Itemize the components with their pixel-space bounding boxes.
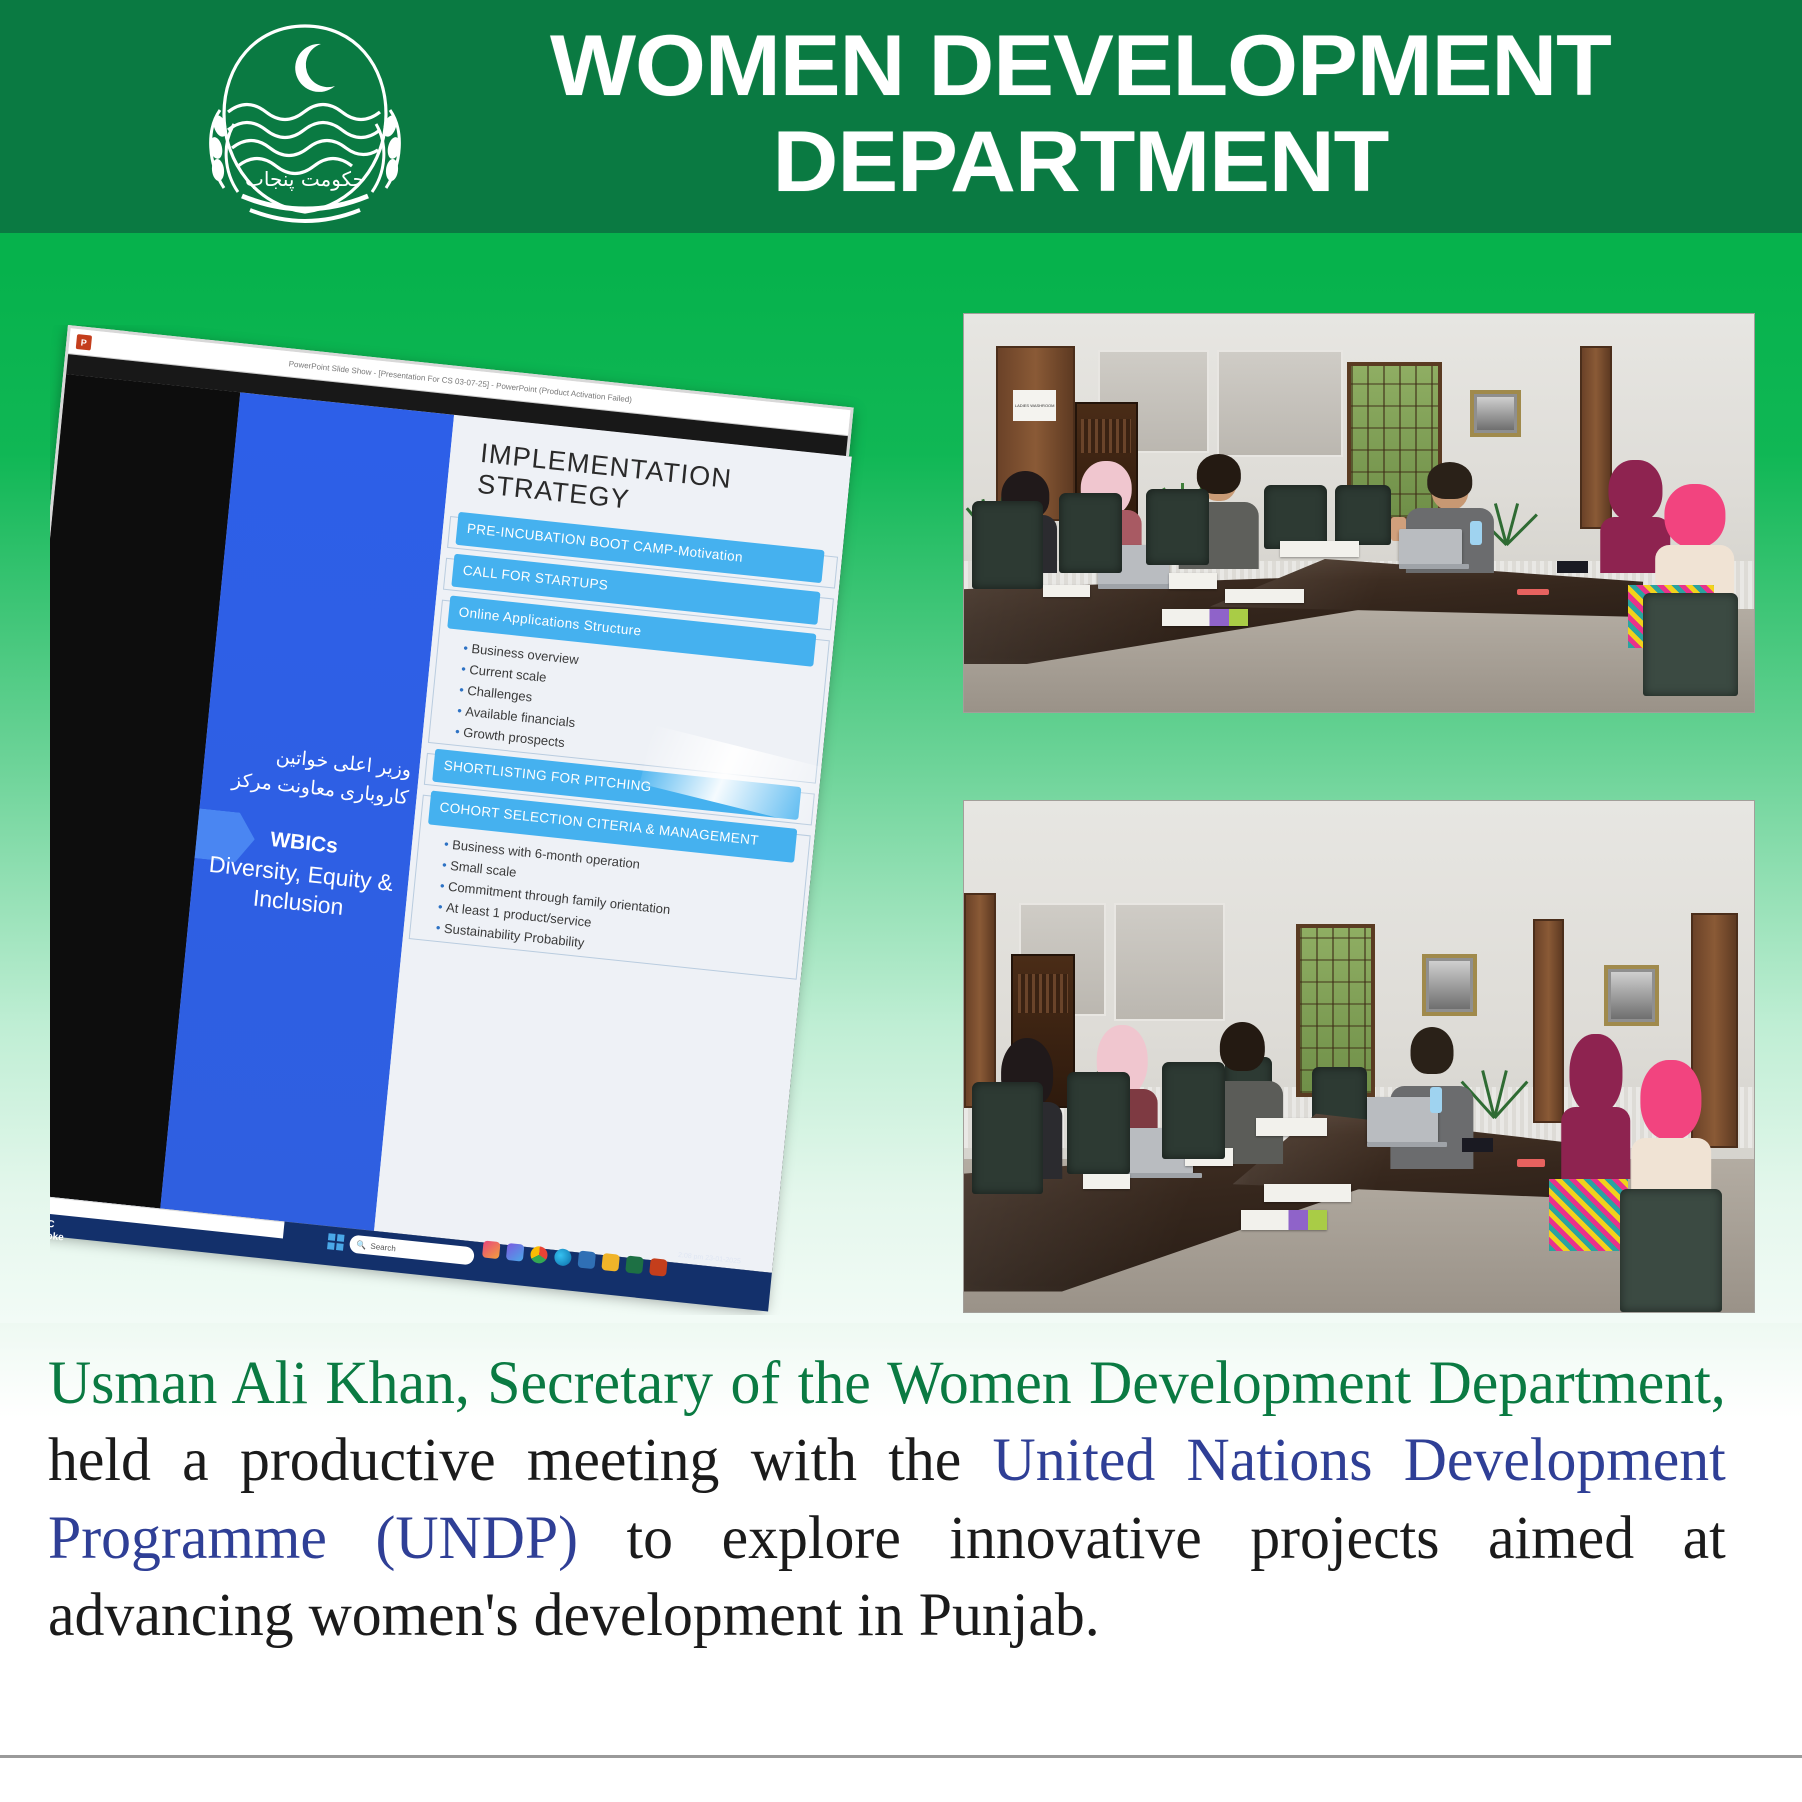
weather-temperature: 14°C (50, 1217, 65, 1232)
widgets-icon[interactable] (506, 1243, 525, 1262)
papers (1280, 541, 1359, 557)
edge-icon[interactable] (554, 1248, 573, 1267)
folder (1162, 609, 1249, 627)
caption-text: Usman Ali Khan, Secretary of the Women D… (48, 1345, 1726, 1655)
crest-urdu-text: حکومت پنجاب (245, 167, 365, 192)
projection-screen: P PowerPoint Slide Show - [Presentation … (50, 325, 854, 1308)
chrome-icon[interactable] (530, 1245, 549, 1264)
wall-picture (1604, 965, 1659, 1026)
slide-right-panel: IMPLEMENTATION STRATEGY PRE-INCUBATION B… (374, 415, 852, 1273)
laptop (1367, 1097, 1438, 1143)
device (1557, 561, 1589, 573)
powerpoint-icon[interactable] (649, 1258, 668, 1277)
dupatta (1549, 1179, 1628, 1251)
windows-start-icon[interactable] (327, 1233, 344, 1251)
projected-slide-photo: P PowerPoint Slide Show - [Presentation … (50, 325, 880, 1315)
water-bottle (1430, 1087, 1442, 1113)
potted-plant (1470, 1036, 1517, 1118)
government-of-punjab-emblem-icon: حکومت پنجاب (190, 14, 420, 229)
page-header: حکومت پنجاب WOMEN DEVELOPMENT DEPARTMENT (0, 0, 1802, 233)
page-title: WOMEN DEVELOPMENT DEPARTMENT (455, 18, 1706, 211)
magnifier-icon: 🔍 (356, 1240, 367, 1250)
caption-segment-dark-1: held a productive meeting with the (48, 1427, 993, 1494)
slide-step: COHORT SELECTION CITERIA & MANAGEMENT Bu… (417, 790, 797, 974)
device (1462, 1138, 1494, 1151)
excel-icon[interactable] (625, 1255, 644, 1274)
store-icon[interactable] (577, 1250, 596, 1269)
meeting-photo-bottom (963, 800, 1755, 1313)
attendee (1636, 1067, 1707, 1210)
laptop (1399, 529, 1462, 565)
bottom-white-strip (0, 1758, 1802, 1802)
header-accent-band (0, 233, 1802, 263)
pen (1517, 1159, 1545, 1167)
file-explorer-icon[interactable] (601, 1253, 620, 1272)
caption-box: Usman Ali Khan, Secretary of the Women D… (0, 1323, 1802, 1758)
papers (1256, 1118, 1327, 1136)
meeting-photo-top: LADIES WASHROOM (963, 313, 1755, 713)
slide-canvas: وزیر اعلی خواتین کاروباری معاونت مرکز WB… (50, 374, 852, 1273)
taskbar-search-placeholder: Search (370, 1241, 396, 1253)
wall-picture (1422, 954, 1477, 1015)
page-title-line-2: DEPARTMENT (455, 114, 1706, 210)
pen (1517, 589, 1549, 595)
papers (1043, 585, 1090, 597)
papers (1264, 1184, 1351, 1202)
wall-picture (1470, 390, 1521, 438)
caption-segment-green: Usman Ali Khan, Secretary of the Women D… (48, 1350, 1726, 1417)
page-title-line-1: WOMEN DEVELOPMENT (455, 18, 1706, 114)
folder (1241, 1210, 1328, 1230)
door-sign: LADIES WASHROOM (1013, 390, 1056, 422)
papers (1083, 1174, 1130, 1189)
papers (1225, 589, 1304, 603)
attendee (1564, 1041, 1627, 1179)
poster-root: حکومت پنجاب WOMEN DEVELOPMENT DEPARTMENT… (0, 0, 1802, 1802)
copilot-icon[interactable] (482, 1240, 501, 1259)
weather-condition: Smoke (50, 1229, 64, 1244)
slide-urdu-title: وزیر اعلی خواتین کاروباری معاونت مرکز (201, 736, 412, 812)
water-bottle (1470, 521, 1483, 545)
notebook (1169, 573, 1216, 589)
powerpoint-icon: P (76, 334, 92, 350)
